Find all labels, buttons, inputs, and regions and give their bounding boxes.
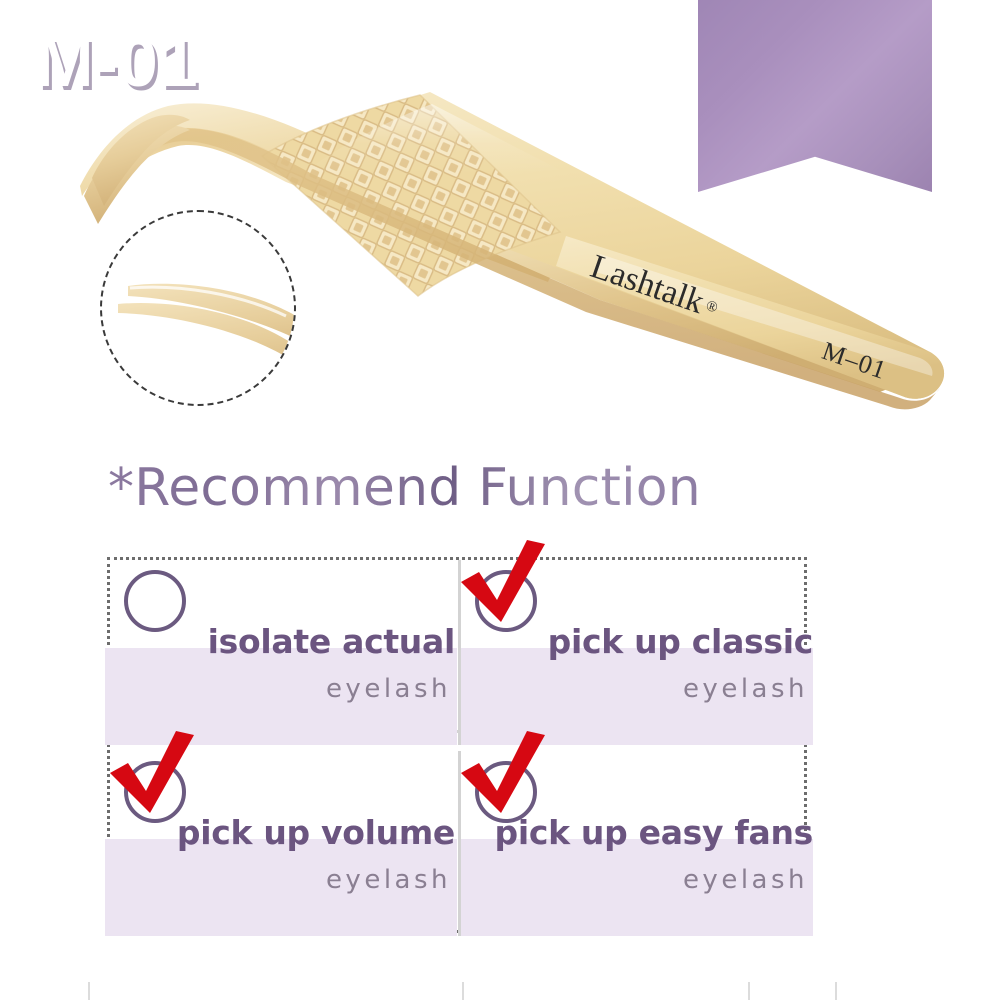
checkmark-icon [457, 729, 553, 825]
feature-cell-isolate-actual[interactable]: isolate actual eyelash [110, 560, 457, 745]
brand-engraving-group: Lashtalk® [586, 248, 724, 327]
feature-title: pick up classic [461, 622, 813, 661]
feature-cell-pick-up-easy-fans[interactable]: pick up easy fans eyelash [461, 751, 808, 936]
model-banner-label: M-01 [0, 22, 234, 102]
feature-title: pick up volume [110, 813, 455, 852]
feature-cell-pick-up-classic[interactable]: pick up classic eyelash [461, 560, 808, 745]
bottom-tick-4 [835, 982, 837, 1000]
feature-grid: isolate actual eyelash pick up classic e… [107, 557, 807, 933]
bottom-tick-3 [748, 982, 750, 1000]
tip-detail-circle [100, 210, 296, 406]
recommend-function-heading: *Recommend Function [108, 458, 701, 518]
feature-cell-pick-up-volume[interactable]: pick up volume eyelash [110, 751, 457, 936]
product-photo: Lashtalk® M–01 M-01 [0, 0, 1000, 440]
feature-subtitle: eyelash [110, 865, 451, 895]
bottom-tick-2 [462, 982, 464, 1000]
model-banner [698, 0, 932, 192]
product-image-page: Lashtalk® M–01 M-01 *Recommend Function … [0, 0, 1000, 1000]
tweezer-tips [84, 115, 190, 224]
model-engraving: M–01 [818, 336, 890, 386]
feature-title: isolate actual [110, 622, 455, 661]
checkmark-icon [106, 729, 202, 825]
feature-subtitle: eyelash [461, 674, 808, 704]
knurl-texture [240, 80, 600, 320]
feature-title: pick up easy fans [461, 813, 813, 852]
trademark-symbol: ® [704, 298, 720, 317]
checkmark-icon [457, 538, 553, 634]
brand-engraving: Lashtalk [586, 248, 709, 321]
bottom-tick-1 [88, 982, 90, 1000]
feature-subtitle: eyelash [110, 674, 451, 704]
feature-subtitle: eyelash [461, 865, 808, 895]
